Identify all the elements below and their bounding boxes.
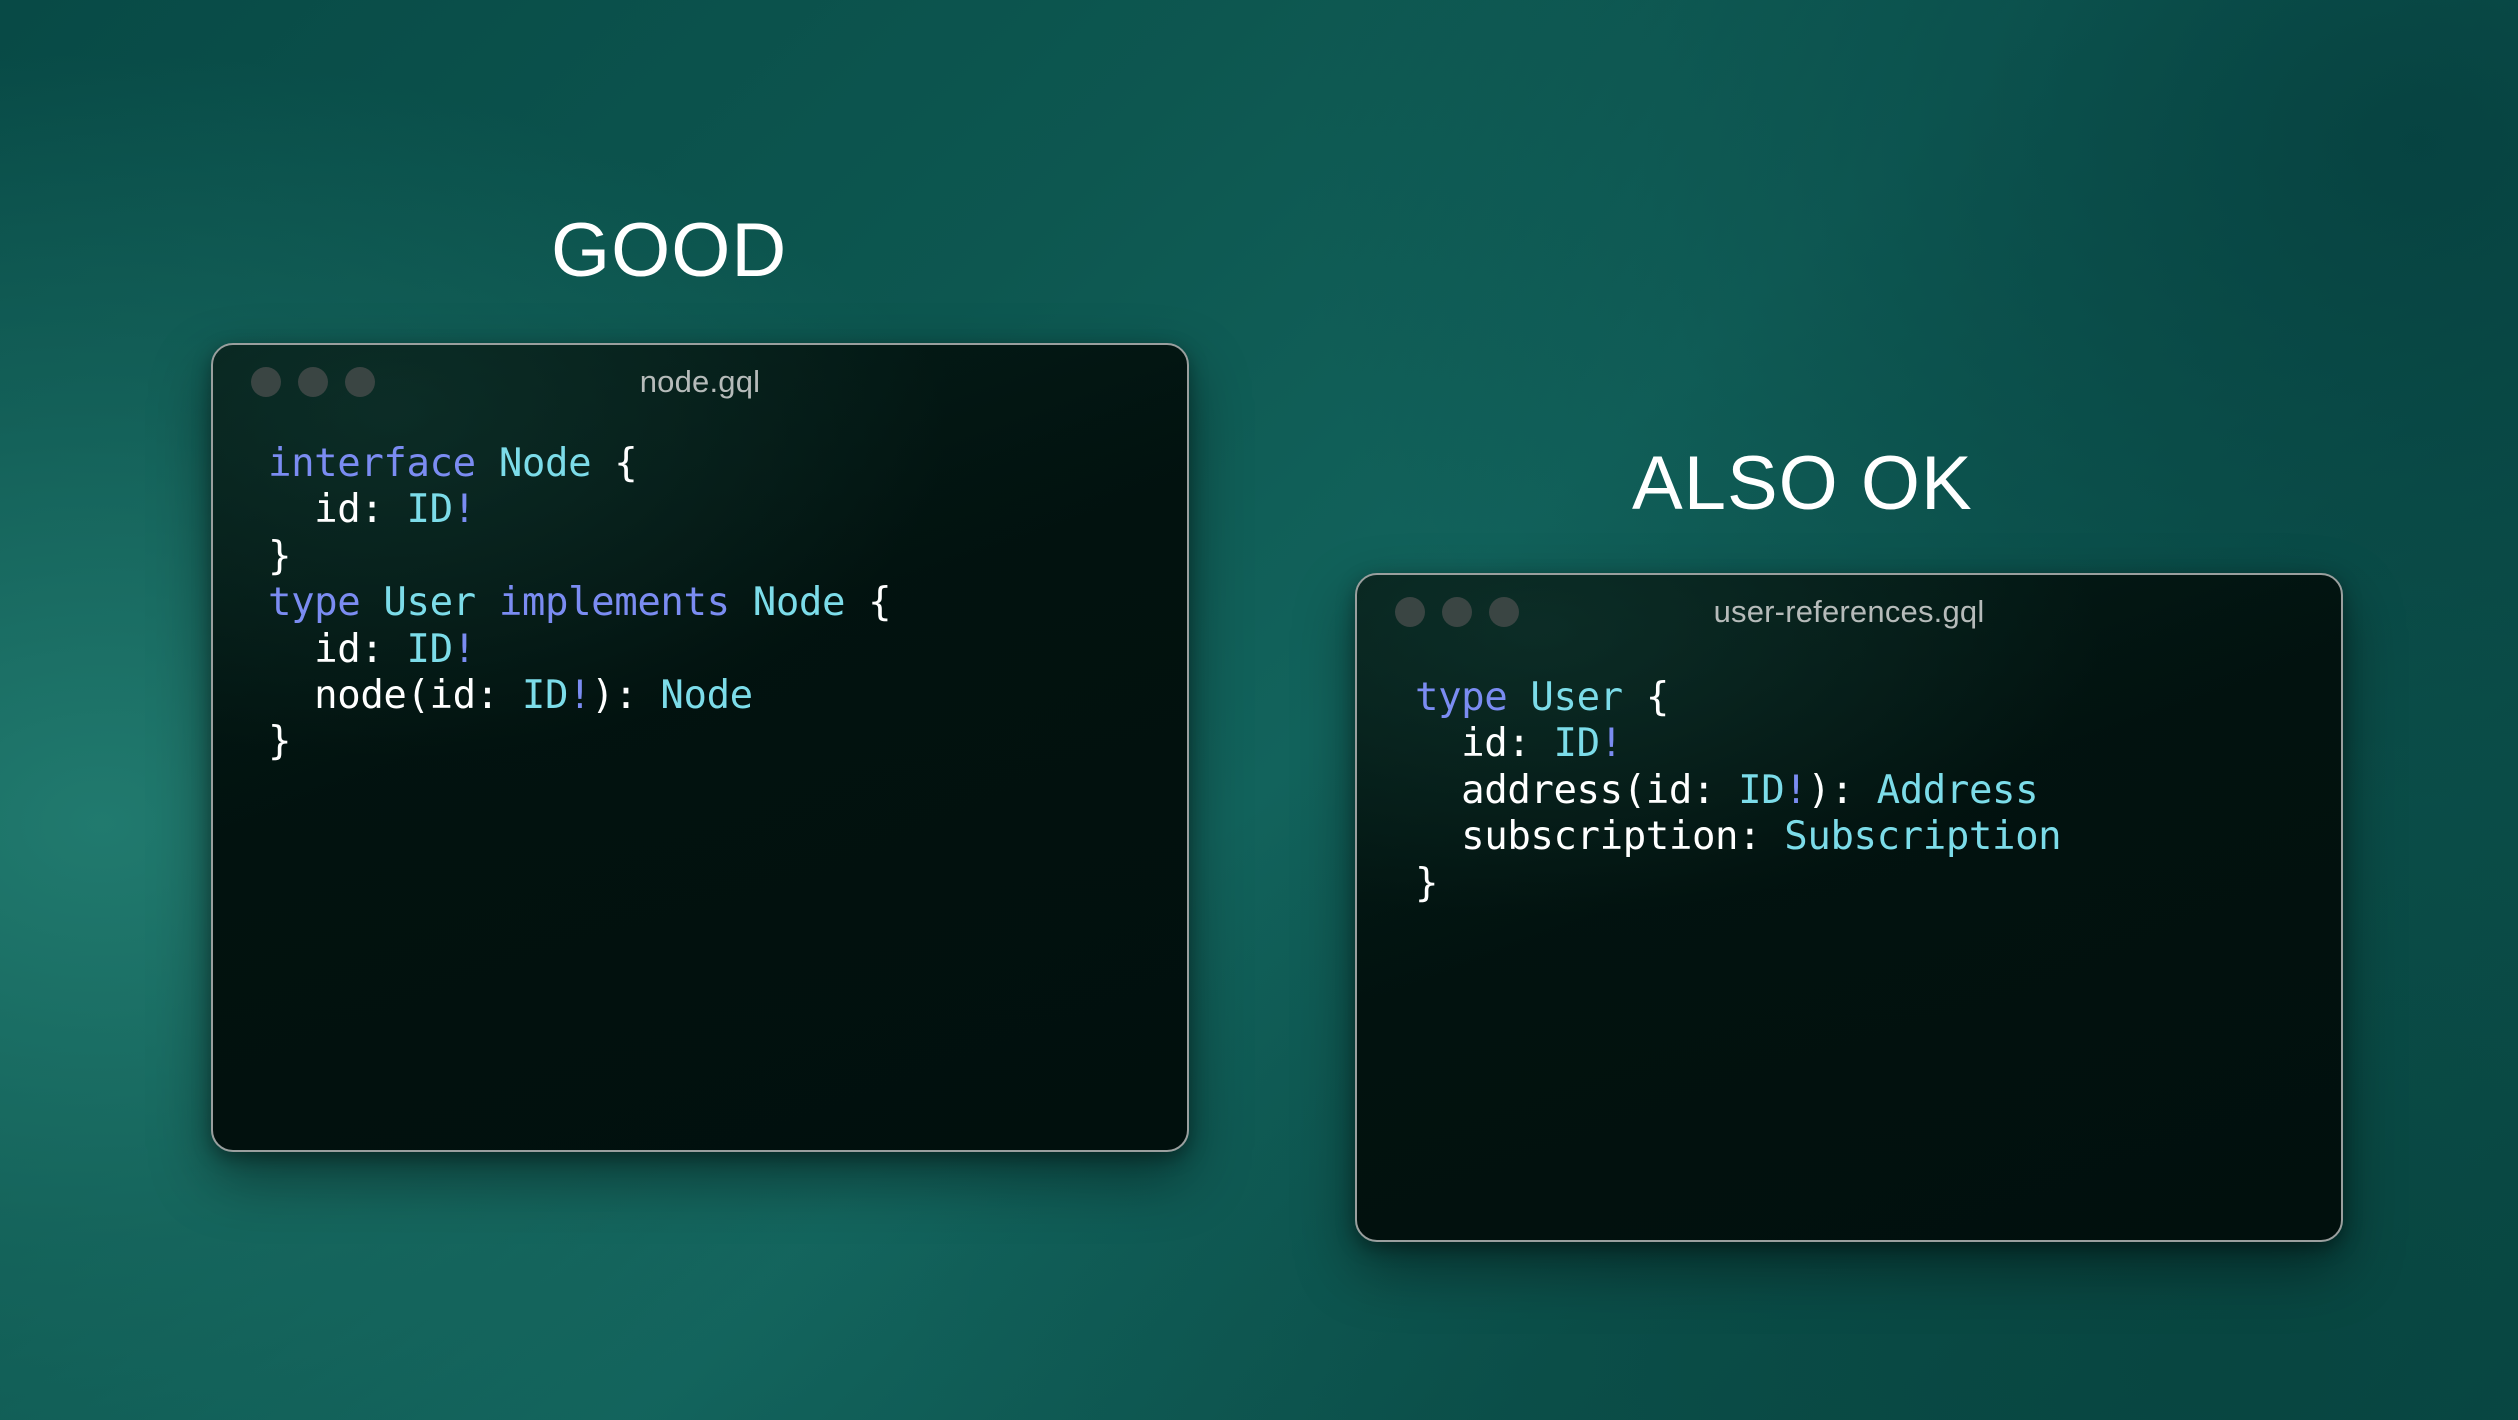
code-token: ID (1553, 721, 1599, 766)
code-line: node(id: ID!): Node (268, 673, 1187, 719)
code-token: type (268, 580, 360, 625)
code-token: Node (660, 673, 752, 718)
code-token (476, 580, 499, 625)
code-token: Node (753, 580, 845, 625)
code-line: id: ID! (268, 627, 1187, 673)
code-line: interface Node { (268, 441, 1187, 487)
code-token: Node (499, 441, 591, 486)
code-token: User (383, 580, 475, 625)
code-token: interface (268, 441, 476, 486)
code-token: { (1623, 675, 1669, 720)
code-token: ): (591, 673, 660, 718)
code-line: subscription: Subscription (1415, 814, 2341, 860)
code-token: id: (268, 487, 406, 532)
code-token: ! (453, 627, 476, 672)
code-token: implements (499, 580, 730, 625)
heading-also-ok: ALSO OK (1632, 440, 1973, 527)
close-dot-icon[interactable] (251, 367, 281, 397)
code-token (476, 441, 499, 486)
minimize-dot-icon[interactable] (298, 367, 328, 397)
code-line: } (1415, 861, 2341, 907)
traffic-lights-also-ok (1395, 597, 1519, 627)
code-token: { (591, 441, 637, 486)
code-token: ! (453, 487, 476, 532)
code-line: id: ID! (268, 487, 1187, 533)
code-window-also-ok[interactable]: user-references.gql type User { id: ID! … (1355, 573, 2343, 1242)
code-token: } (268, 719, 291, 764)
code-line: type User { (1415, 675, 2341, 721)
code-line: id: ID! (1415, 721, 2341, 767)
window-titlebar-good: node.gql (213, 345, 1187, 419)
code-window-good[interactable]: node.gql interface Node { id: ID!}type U… (211, 343, 1189, 1152)
window-titlebar-also-ok: user-references.gql (1357, 575, 2341, 649)
code-token (360, 580, 383, 625)
code-line: type User implements Node { (268, 580, 1187, 626)
code-token: ! (568, 673, 591, 718)
code-token: ! (1600, 721, 1623, 766)
code-token: } (268, 534, 291, 579)
code-line: address(id: ID!): Address (1415, 768, 2341, 814)
code-line: } (268, 719, 1187, 765)
code-token: ID (406, 487, 452, 532)
code-token: node(id: (268, 673, 522, 718)
code-token: ID (1738, 768, 1784, 813)
code-token: subscription: (1415, 814, 1784, 859)
traffic-lights-good (251, 367, 375, 397)
code-token (1507, 675, 1530, 720)
heading-good: GOOD (551, 207, 787, 294)
code-token: ID (522, 673, 568, 718)
code-token (730, 580, 753, 625)
code-token: address(id: (1415, 768, 1738, 813)
maximize-dot-icon[interactable] (345, 367, 375, 397)
code-token: Subscription (1784, 814, 2061, 859)
code-token: ID (406, 627, 452, 672)
code-token: Address (1877, 768, 2039, 813)
code-token: id: (268, 627, 406, 672)
code-token: User (1530, 675, 1622, 720)
code-token: ): (1807, 768, 1876, 813)
maximize-dot-icon[interactable] (1489, 597, 1519, 627)
code-token: ! (1784, 768, 1807, 813)
code-token: id: (1415, 721, 1553, 766)
code-line: } (268, 534, 1187, 580)
minimize-dot-icon[interactable] (1442, 597, 1472, 627)
code-token: { (845, 580, 891, 625)
code-block-good[interactable]: interface Node { id: ID!}type User imple… (213, 419, 1187, 766)
close-dot-icon[interactable] (1395, 597, 1425, 627)
code-token: } (1415, 861, 1438, 906)
code-token: type (1415, 675, 1507, 720)
code-block-also-ok[interactable]: type User { id: ID! address(id: ID!): Ad… (1357, 649, 2341, 907)
